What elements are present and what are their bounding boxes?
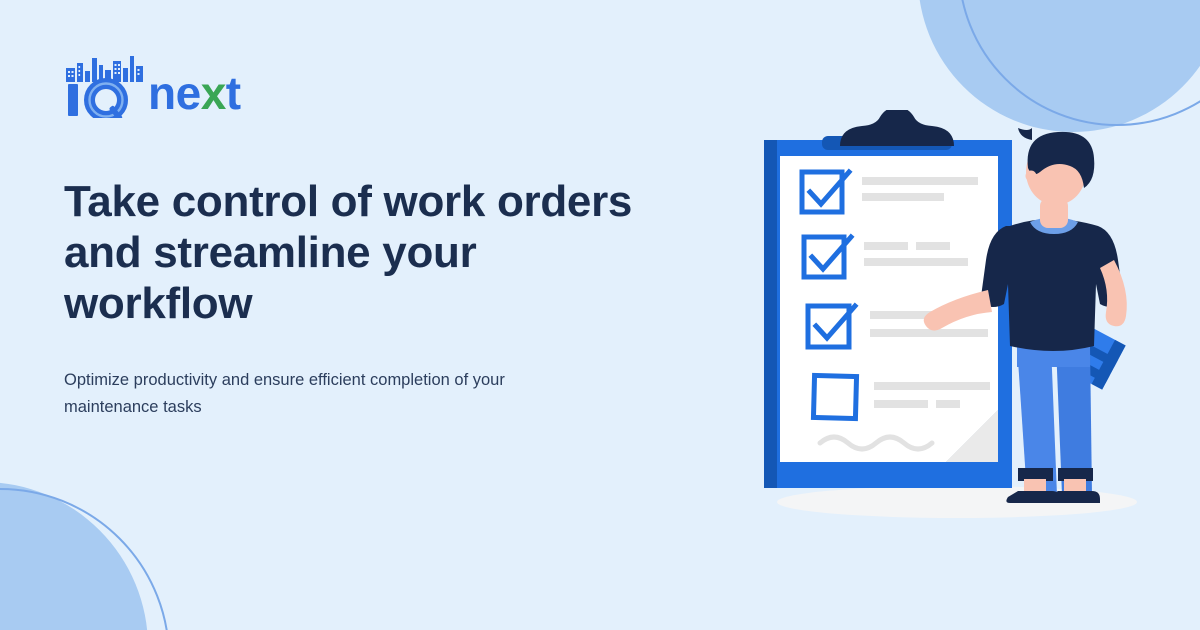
- logo-word-t: t: [226, 67, 241, 119]
- logo[interactable]: next: [64, 56, 241, 118]
- hero-copy: Take control of work orders and streamli…: [64, 176, 664, 421]
- decorative-circle-bottom-left-ring: [0, 488, 170, 630]
- city-skyline-icon: [64, 56, 150, 118]
- hero-illustration: [722, 110, 1172, 540]
- person-with-clipboard-illustration: [722, 110, 1172, 540]
- logo-word-n: n: [148, 67, 176, 119]
- clipboard-clip: [840, 110, 954, 146]
- page-title: Take control of work orders and streamli…: [64, 176, 664, 329]
- banner: next Take control of work orders and str…: [0, 0, 1200, 630]
- logo-word-e: e: [176, 67, 201, 119]
- page-subtitle: Optimize productivity and ensure efficie…: [64, 367, 594, 420]
- logo-word-x: x: [201, 67, 226, 119]
- logo-wordmark: next: [148, 70, 241, 118]
